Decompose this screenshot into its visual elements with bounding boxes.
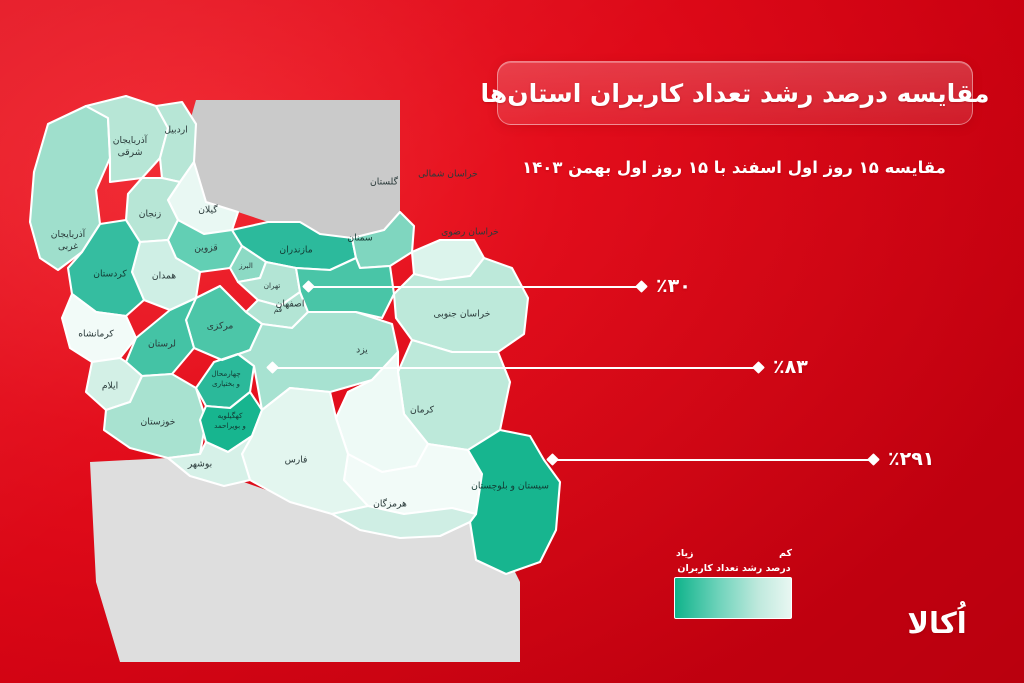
label-alborz: البرز — [238, 261, 253, 270]
infographic-canvas: مقایسه درصد رشد تعداد کاربران استان‌ها م… — [0, 0, 1024, 683]
callout-value-3: ٪۲۹۱ — [888, 448, 934, 470]
callout-arrow-3 — [867, 453, 880, 466]
label-golestan: گلستان — [370, 176, 399, 188]
label-chaharmahal: چهارمحالو بختیاری — [211, 369, 240, 388]
legend-high-label: زیاد — [676, 548, 693, 559]
label-hamedan: همدان — [152, 271, 176, 282]
legend: کم زیاد درصد رشد تعداد کاربران — [676, 548, 792, 619]
label-ardabil: اردبیل — [164, 125, 187, 136]
callout-value-1: ٪۳۰ — [656, 275, 691, 297]
brand-logo: اُکالا — [898, 602, 976, 644]
province-lorestan — [126, 298, 196, 376]
label-khorasan-jonoobi: خراسان جنوبی — [434, 309, 491, 320]
callout-arrow-2 — [752, 361, 765, 374]
label-gilan: گیلان — [198, 204, 218, 216]
label-kordestan: کردستان — [93, 269, 127, 280]
callout-value-2: ٪۸۳ — [773, 356, 808, 378]
label-kohgiluyeh: کهگیلویهو بویراحمد — [214, 411, 246, 430]
legend-endpoints: کم زیاد — [676, 548, 792, 562]
callout-line-2 — [273, 367, 758, 369]
label-zanjan: زنجان — [139, 209, 161, 220]
province-sistan-baloochestan — [468, 430, 560, 574]
label-yazd: یزد — [356, 345, 368, 356]
label-kerman: کرمان — [410, 405, 435, 416]
legend-gradient-bar — [674, 577, 792, 619]
label-semnan: سمنان — [347, 233, 372, 244]
label-ilam: ایلام — [102, 381, 118, 392]
label-booshehr: بوشهر — [187, 459, 212, 470]
label-esfahan: اصفهان — [276, 299, 305, 310]
label-mazandaran: مازندران — [279, 245, 312, 256]
label-khorasan-shomali: خراسان شمالی — [418, 169, 478, 180]
iran-province-map: آذربایجانغربی آذربایجانشرقی اردبیل گیلان… — [0, 62, 660, 662]
label-markazi: مرکزی — [207, 321, 234, 332]
label-ghazvin: قزوین — [194, 243, 217, 254]
callout-line-3 — [553, 459, 873, 461]
label-kermanshah: کرمانشاه — [78, 329, 114, 340]
label-fars: فارس — [285, 455, 308, 466]
label-khorasan-razavi: خراسان رضوی — [441, 227, 499, 238]
brand-logo-text: اُکالا — [907, 609, 966, 638]
map-svg: آذربایجانغربی آذربایجانشرقی اردبیل گیلان… — [0, 62, 660, 662]
callout-line-1 — [309, 286, 641, 288]
label-tehran: تهران — [264, 281, 281, 290]
label-sistan: سیستان و بلوچستان — [471, 481, 549, 492]
legend-title: درصد رشد تعداد کاربران — [676, 563, 792, 574]
label-khoozestan: خوزستان — [141, 417, 176, 428]
label-hormozgan: هرمزگان — [373, 498, 407, 510]
legend-low-label: کم — [779, 548, 792, 559]
label-lorestan: لرستان — [148, 339, 176, 350]
